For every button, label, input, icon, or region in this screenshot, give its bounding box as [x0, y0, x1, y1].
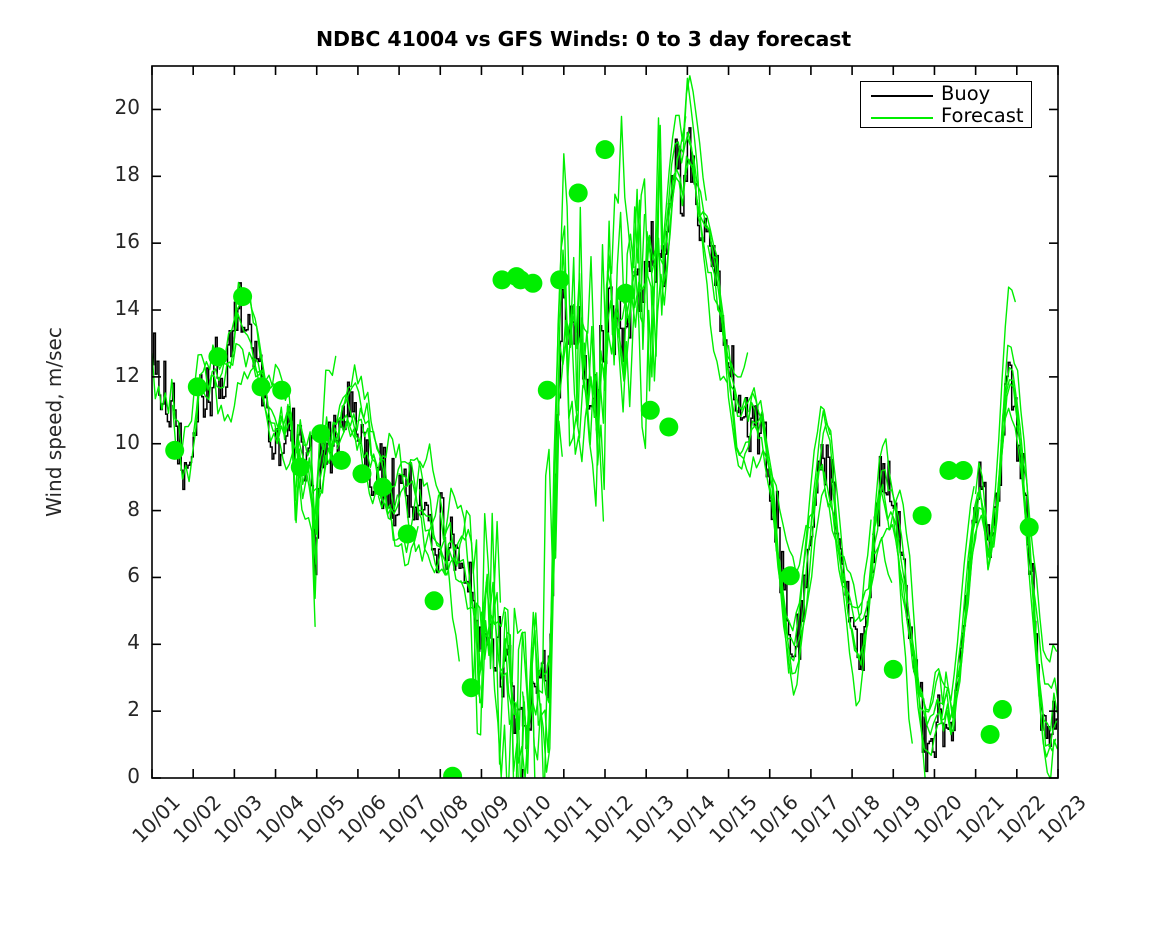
y-tick-label: 14	[115, 296, 140, 320]
y-tick-label: 12	[115, 363, 140, 387]
chart-plot-area	[0, 0, 1167, 875]
figure-canvas: NDBC 41004 vs GFS Winds: 0 to 3 day fore…	[0, 0, 1167, 875]
y-tick-label: 18	[115, 162, 140, 186]
y-tick-label: 4	[127, 630, 140, 654]
legend-swatch-buoy	[871, 95, 933, 97]
legend-swatch-forecast	[871, 117, 933, 119]
y-tick-label: 8	[127, 497, 140, 521]
legend-entry-forecast: Forecast	[861, 106, 1031, 129]
legend-label-buoy: Buoy	[941, 82, 990, 105]
y-tick-label: 0	[127, 764, 140, 788]
legend-label-forecast: Forecast	[941, 104, 1024, 127]
y-axis-label: Wind speed, m/sec	[42, 327, 66, 517]
y-tick-label: 2	[127, 697, 140, 721]
y-tick-label: 10	[115, 430, 140, 454]
chart-legend: Buoy Forecast	[860, 81, 1032, 128]
y-tick-label: 6	[127, 563, 140, 587]
y-tick-label: 20	[115, 95, 140, 119]
y-tick-label: 16	[115, 229, 140, 253]
